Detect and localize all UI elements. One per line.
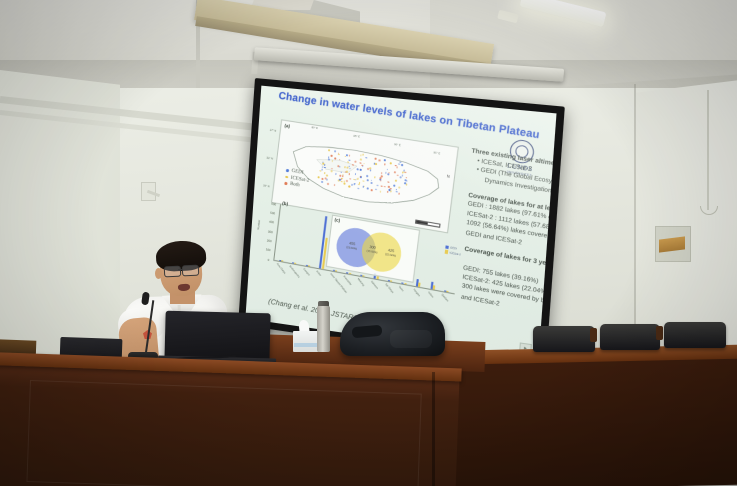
venn-panel-tag: (c) bbox=[334, 217, 340, 223]
bar-xlabel: Ganges bbox=[302, 268, 310, 277]
map-lake-point bbox=[339, 166, 341, 168]
bar-xlabel: Irrawaddy bbox=[343, 275, 353, 286]
map-lake-point bbox=[331, 160, 333, 162]
map-lake-point bbox=[327, 183, 329, 185]
bar-icesat-2 bbox=[362, 276, 364, 277]
bar-icesat-2 bbox=[447, 291, 449, 292]
map-lake-point bbox=[366, 175, 368, 177]
map-lake-point bbox=[325, 177, 327, 179]
map-lake-point bbox=[347, 167, 349, 169]
map-lake-point bbox=[374, 158, 376, 160]
legend-swatch-gedi bbox=[286, 169, 289, 172]
map-lake-point bbox=[338, 154, 340, 156]
map-lake-point bbox=[360, 158, 362, 160]
bar-xlabel: Tarim bbox=[398, 285, 405, 292]
map-lake-point bbox=[380, 179, 382, 181]
bar-icesat-2 bbox=[390, 281, 392, 282]
map-lake-point bbox=[362, 154, 364, 156]
bar-icesat-2 bbox=[349, 273, 351, 274]
chair[interactable] bbox=[533, 326, 595, 352]
map-lake-point bbox=[349, 160, 351, 162]
bar-ytick: 200 bbox=[260, 237, 272, 243]
map-lake-point bbox=[341, 181, 343, 183]
bar-xlabel: Yangtze bbox=[412, 288, 421, 297]
bar-legend-swatch-gedi bbox=[445, 245, 449, 249]
bar-ytick: 500 bbox=[263, 209, 275, 215]
map-lake-point bbox=[331, 155, 333, 157]
thermos[interactable] bbox=[317, 306, 330, 352]
map-lake-point bbox=[358, 184, 360, 186]
map-lake-point bbox=[338, 179, 340, 181]
map-lat-tick-1: 33° N bbox=[266, 157, 273, 161]
map-lake-point bbox=[400, 176, 402, 178]
map-lake-point bbox=[384, 163, 386, 165]
bar-xlabel: Qaidam bbox=[441, 293, 450, 302]
map-lake-point bbox=[321, 169, 323, 171]
bar-xlabel: Amu Darya bbox=[275, 263, 285, 275]
map-lake-point bbox=[334, 150, 336, 152]
map-lake-point bbox=[355, 173, 357, 175]
map-lake-point bbox=[340, 175, 342, 177]
legend-label-both: Both bbox=[290, 182, 300, 189]
north-arrow-icon: N bbox=[446, 173, 450, 179]
map-lake-point bbox=[384, 159, 386, 161]
bar-icesat-2 bbox=[281, 261, 283, 262]
map-lake-point bbox=[371, 182, 373, 184]
map-lake-point bbox=[339, 159, 341, 161]
map-lake-point bbox=[357, 168, 359, 170]
bar-ytick: 600 bbox=[264, 200, 276, 206]
map-lake-point bbox=[399, 161, 401, 163]
side-table-body bbox=[417, 355, 737, 486]
presenter-glasses-left bbox=[164, 266, 182, 278]
chair[interactable] bbox=[664, 322, 726, 348]
map-lake-point bbox=[384, 186, 386, 188]
map-lake-point bbox=[348, 173, 350, 175]
chair[interactable] bbox=[600, 324, 660, 350]
map-lake-point bbox=[393, 185, 395, 187]
map-lake-point bbox=[322, 163, 324, 165]
map-lake-point bbox=[346, 171, 348, 173]
map-lake-point bbox=[387, 191, 389, 193]
map-lake-point bbox=[351, 184, 353, 186]
bar-xlabel: Salween bbox=[370, 280, 379, 290]
map-lake-point bbox=[349, 168, 351, 170]
map-lake-point bbox=[326, 175, 328, 177]
map-lake-point bbox=[365, 157, 367, 159]
map-lake-point bbox=[404, 182, 406, 184]
map-lake-point bbox=[367, 187, 369, 189]
map-lake-point bbox=[402, 171, 404, 173]
lecture-hall-photo: Change in water levels of lakes on Tibet… bbox=[0, 0, 737, 486]
bar-icesat-2 bbox=[335, 271, 337, 272]
tissue-box-band bbox=[294, 343, 318, 347]
bar-xlabel: Syr Darya bbox=[384, 283, 394, 294]
bar-legend-swatch-icesat2 bbox=[444, 250, 448, 254]
map-lake-point bbox=[375, 188, 377, 190]
map-lake-point bbox=[377, 184, 379, 186]
tissue-box[interactable] bbox=[293, 331, 319, 352]
map-lake-point bbox=[357, 188, 359, 190]
map-lake-point bbox=[395, 180, 397, 182]
map-lake-point bbox=[335, 158, 337, 160]
backpack-pocket bbox=[390, 330, 432, 348]
map-lake-point bbox=[324, 172, 326, 174]
map-lake-point bbox=[324, 167, 326, 169]
map-lake-point bbox=[354, 161, 356, 163]
map-lake-point bbox=[367, 168, 369, 170]
map-lake-point bbox=[346, 180, 348, 182]
bar-icesat-2 bbox=[294, 263, 296, 264]
map-lake-point bbox=[352, 164, 354, 166]
map-lake-point bbox=[404, 171, 406, 173]
map-lake-point bbox=[328, 150, 330, 152]
map-lake-point bbox=[379, 159, 381, 161]
wall-pipe bbox=[707, 90, 709, 210]
map-lake-point bbox=[357, 178, 359, 180]
map-lake-point bbox=[394, 171, 396, 173]
map-lake-point bbox=[343, 182, 345, 184]
map-lake-point bbox=[381, 185, 383, 187]
map-lake-point bbox=[335, 173, 337, 175]
presenter-glasses-bridge bbox=[178, 269, 183, 270]
podium-seam bbox=[432, 372, 435, 486]
map-lake-point bbox=[398, 193, 400, 195]
map-lake-point bbox=[367, 179, 369, 181]
map-lake-point bbox=[401, 164, 403, 166]
presenter-ear bbox=[155, 268, 162, 279]
section-2-line-3: and ICESat-2 bbox=[461, 294, 500, 307]
map-lake-point bbox=[387, 181, 389, 183]
map-lake-point bbox=[318, 176, 320, 178]
map-lake-point bbox=[385, 172, 387, 174]
map-lake-point bbox=[348, 186, 350, 188]
map-lake-point bbox=[390, 190, 392, 192]
map-lake-point bbox=[349, 155, 351, 157]
map-lake-point bbox=[395, 165, 397, 167]
map-lake-point bbox=[340, 171, 342, 173]
map-lake-point bbox=[406, 183, 408, 185]
map-lake-point bbox=[398, 163, 400, 165]
bar-chart-legend: GEDI ICESat-2 bbox=[444, 245, 461, 257]
map-lake-point bbox=[390, 162, 392, 164]
map-lake-point bbox=[320, 170, 322, 172]
bar-legend-label-icesat2: ICESat-2 bbox=[449, 251, 461, 256]
map-lake-point bbox=[349, 178, 351, 180]
bar-xlabel: Yellow bbox=[426, 291, 433, 299]
map-lake-point bbox=[360, 169, 362, 171]
map-lake-point bbox=[363, 180, 365, 182]
map-lake-point bbox=[381, 172, 383, 174]
map-lake-point bbox=[375, 163, 377, 165]
map-lake-point bbox=[334, 184, 336, 186]
map-lake-point bbox=[324, 164, 326, 166]
map-lake-point bbox=[369, 169, 371, 171]
chair-post bbox=[656, 326, 663, 340]
map-lake-point bbox=[397, 174, 399, 176]
map-lake-point bbox=[380, 191, 382, 193]
map-lake-point bbox=[342, 174, 344, 176]
map-lake-point bbox=[353, 178, 355, 180]
map-lat-tick-2: 29° N bbox=[263, 184, 270, 188]
legend-swatch-both bbox=[284, 182, 287, 185]
wall-corner-edge bbox=[634, 84, 636, 334]
bar-xlabel: Indus bbox=[316, 270, 322, 277]
map-lake-point bbox=[399, 187, 401, 189]
map-lake-point bbox=[387, 169, 389, 171]
map-lake-point bbox=[388, 172, 390, 174]
map-lake-point bbox=[321, 178, 323, 180]
map-lat-tick-0: 37° N bbox=[270, 129, 277, 133]
map-lake-point bbox=[405, 177, 407, 179]
map-lake-point bbox=[347, 161, 349, 163]
chair-post bbox=[590, 328, 597, 342]
bar-icesat-2 bbox=[404, 283, 406, 284]
bar-icesat-2 bbox=[308, 265, 310, 266]
bar-xlabel: Mekong bbox=[357, 278, 365, 287]
map-lake-point bbox=[374, 177, 376, 179]
bar-ytick: 0 bbox=[257, 255, 269, 261]
map-lake-point bbox=[342, 175, 344, 177]
map-lake-point bbox=[321, 181, 323, 183]
map-legend: GEDI ICESat-2 Both bbox=[284, 168, 310, 191]
map-lake-point bbox=[396, 167, 398, 169]
map-lake-point bbox=[371, 189, 373, 191]
bar-ytick: 100 bbox=[259, 246, 271, 252]
map-lake-point bbox=[344, 167, 346, 169]
bar-ytick: 300 bbox=[261, 228, 273, 234]
map-lake-point bbox=[363, 163, 365, 165]
map-lake-point bbox=[331, 170, 333, 172]
legend-swatch-icesat2 bbox=[285, 176, 288, 179]
map-lake-point bbox=[396, 191, 398, 193]
bar-xlabel: Brahmaputra bbox=[289, 265, 301, 278]
map-lake-point bbox=[328, 159, 330, 161]
bar-panel-tag: (b) bbox=[282, 201, 288, 207]
map-lake-point bbox=[346, 154, 348, 156]
podium-panel-inset bbox=[26, 380, 421, 486]
slide-citation: (Chang et al. 2023, JSTARS) bbox=[268, 296, 361, 323]
bar-ytick: 400 bbox=[262, 219, 274, 225]
map-lake-point bbox=[331, 168, 333, 170]
map-lake-point bbox=[326, 179, 328, 181]
presenter-glasses-right bbox=[182, 265, 200, 277]
